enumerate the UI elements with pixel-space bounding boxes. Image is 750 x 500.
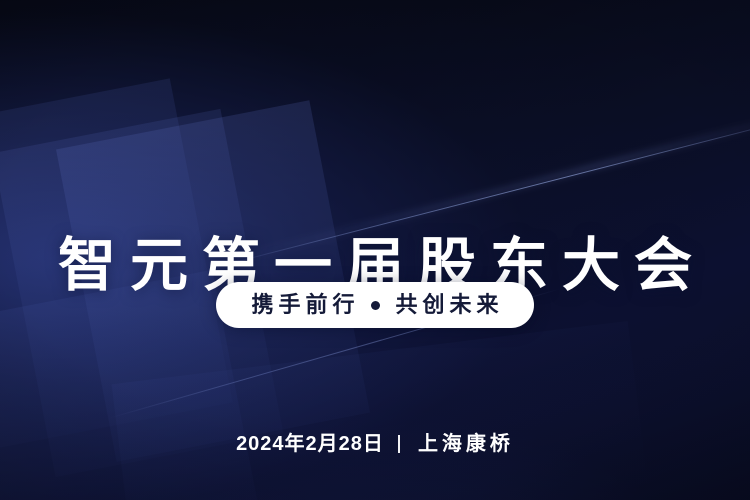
event-meta-row: 2024年2月28日 上海康桥 (0, 434, 750, 454)
subtitle-right-text: 共创未来 (391, 294, 504, 316)
poster-content: 智元第一届股东大会 携手前行 共创未来 2024年2月28日 上海康桥 (0, 0, 750, 500)
subtitle-pill: 携手前行 共创未来 (216, 282, 533, 328)
subtitle-row: 携手前行 共创未来 (0, 282, 750, 328)
bullet-dot-icon (371, 301, 380, 310)
event-date: 2024年2月28日 (236, 434, 384, 454)
vertical-separator-icon (398, 435, 400, 453)
event-poster: 智元第一届股东大会 携手前行 共创未来 2024年2月28日 上海康桥 (0, 0, 750, 500)
event-location: 上海康桥 (414, 434, 514, 454)
subtitle-left-text: 携手前行 (246, 294, 359, 316)
